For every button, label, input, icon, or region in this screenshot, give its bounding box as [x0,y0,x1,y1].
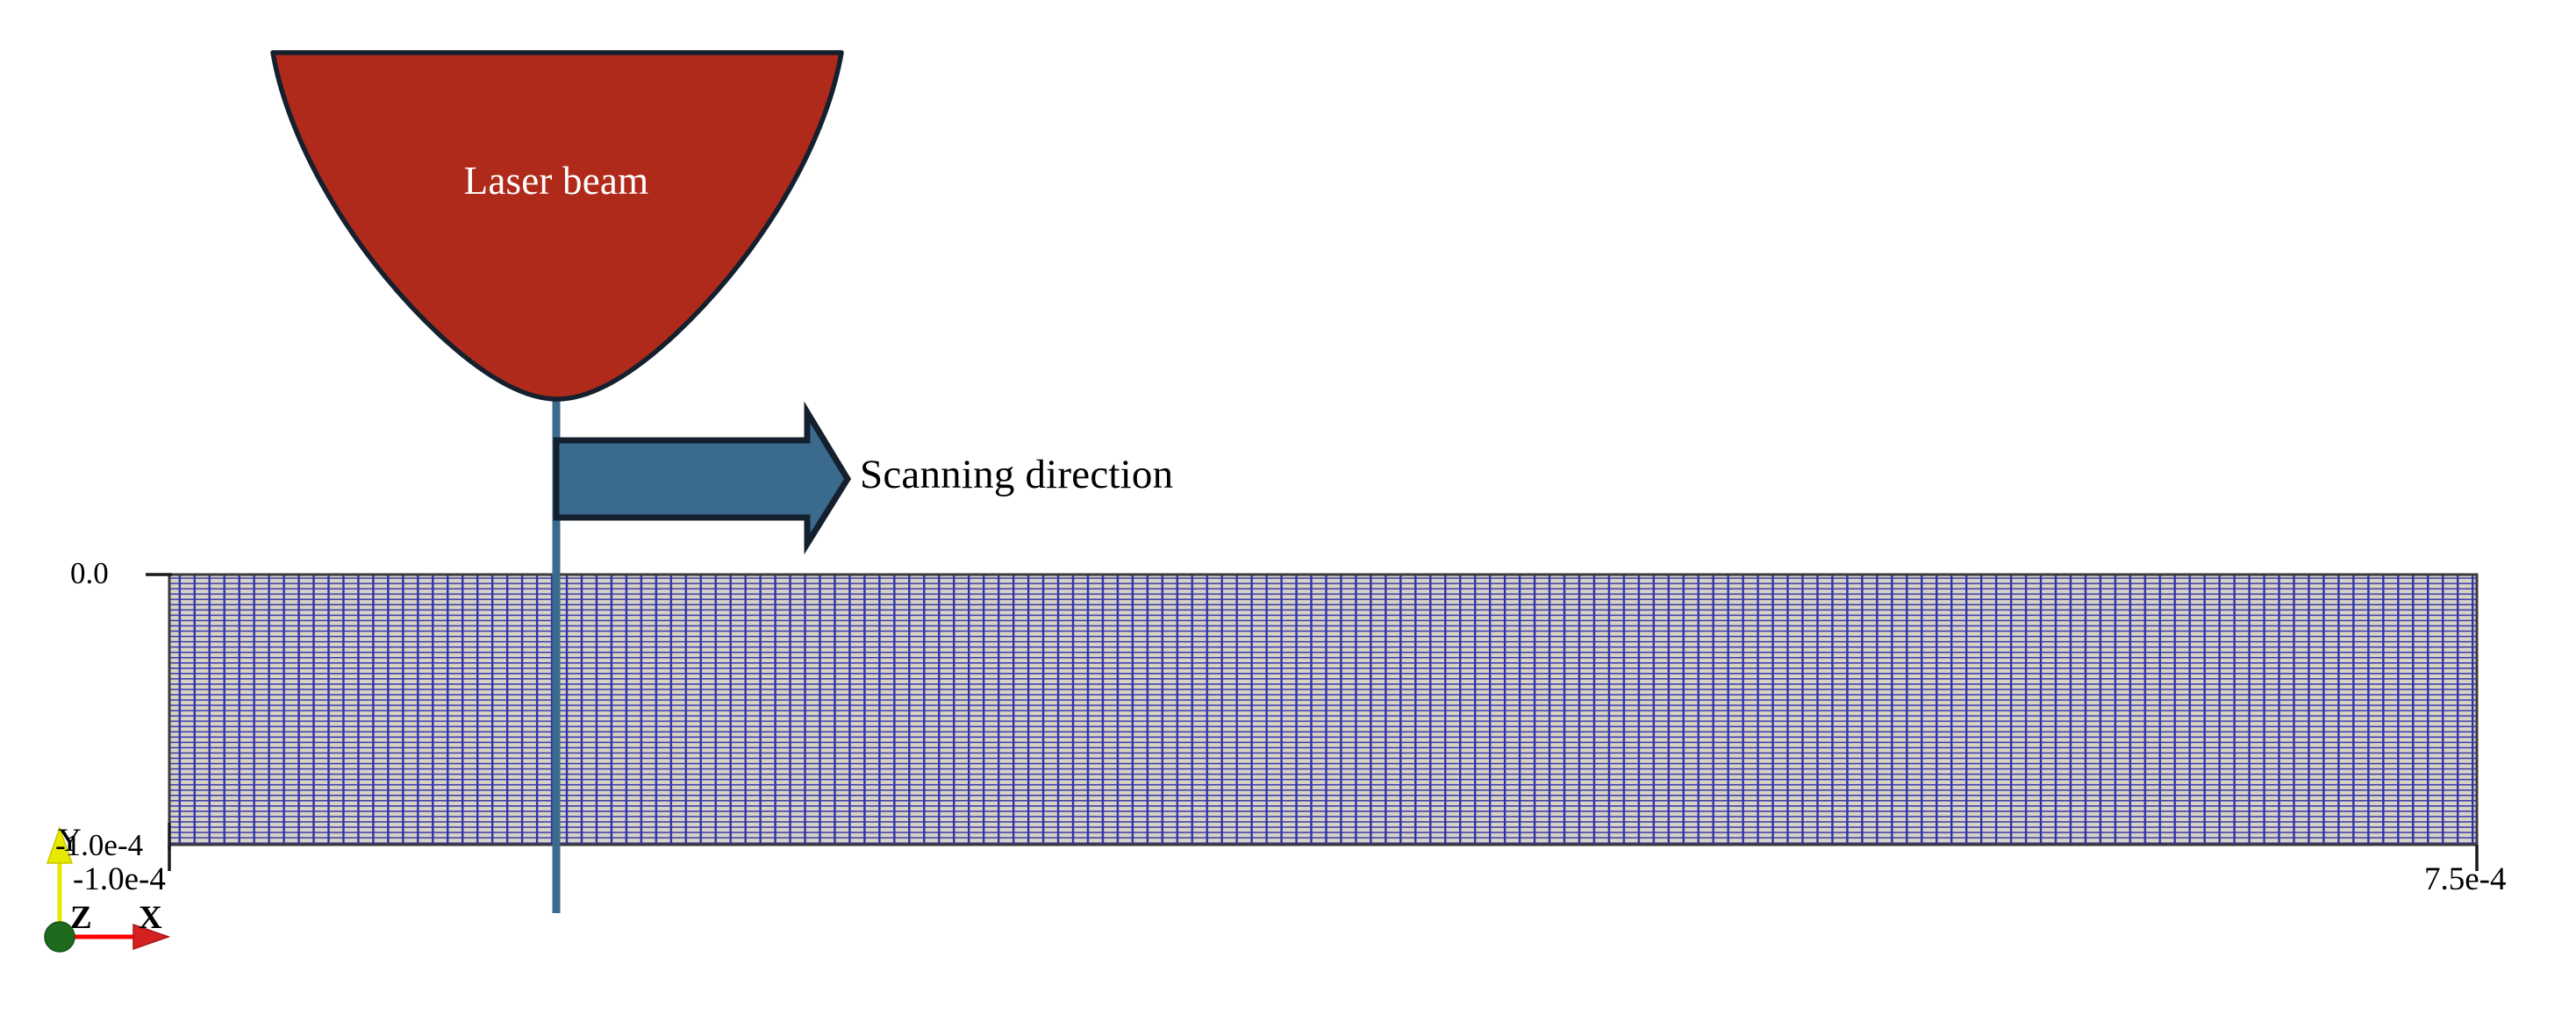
diagram-canvas: Laser beam Scanning direction 0.0 -1.0e-… [0,0,2576,1014]
substrate-mesh [169,575,2477,845]
orientation-axis-y-label: Y [58,825,82,857]
mesh-grid-lines [169,575,2477,845]
laser-beam-label: Laser beam [0,161,1113,201]
laser-beam-shape [273,53,841,399]
scanning-direction-arrow [556,412,848,544]
orientation-axis-z-label: Z [70,902,92,934]
axis-label-x-max: 7.5e-4 [2424,863,2507,896]
diagram-svg [0,0,2576,1014]
orientation-axis-x-label: X [139,902,162,934]
scanning-direction-label: Scanning direction [860,454,1173,496]
axis-label-y-top: 0.0 [70,558,109,589]
axis-label-x-min: -1.0e-4 [73,863,166,896]
